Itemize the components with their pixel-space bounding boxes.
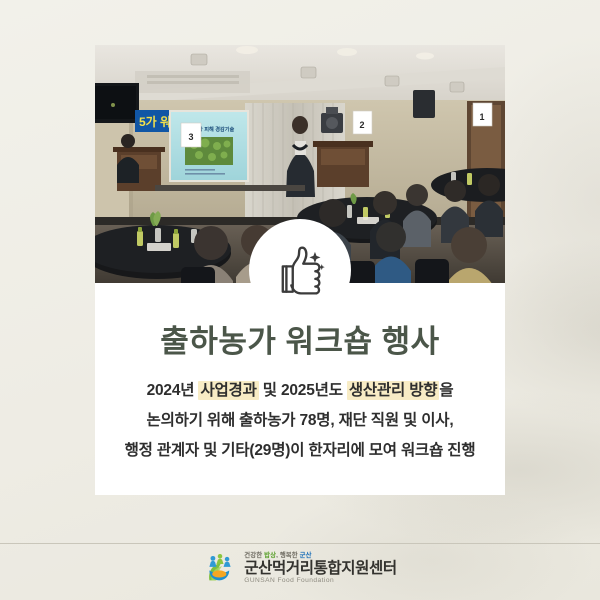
- organization-name: 군산먹거리통합지원센터: [244, 561, 396, 577]
- body-line-2: 논의하기 위해 출하농가 78명, 재단 직원 및 이사,: [95, 406, 505, 436]
- tagline-run: 건강한: [244, 552, 264, 559]
- card-body-text: 2024년 사업경과 및 2025년도 생산관리 방향을 논의하기 위해 출하농…: [95, 376, 505, 466]
- body-text-run: 논의하기 위해 출하농가 78명, 재단 직원 및 이사,: [147, 412, 454, 429]
- highlighted-phrase: 사업경과: [198, 381, 258, 400]
- tagline-run: 군산: [300, 552, 312, 559]
- organization-subtitle: GUNSAN Food Foundation: [244, 578, 396, 585]
- body-text-run: 행정 관계자 및 기타(29명)이 한자리에 모여 워크숍 진행: [125, 442, 476, 459]
- body-text-run: 을: [439, 382, 453, 399]
- svg-text:1: 1: [479, 112, 484, 122]
- svg-text:3: 3: [188, 132, 193, 142]
- gunsan-food-foundation-logo-icon: [203, 552, 237, 586]
- svg-text:2: 2: [359, 120, 364, 130]
- body-text-run: 및 2025년도: [259, 382, 347, 399]
- thumbs-up-medallion: [249, 219, 351, 321]
- footer-divider: [0, 543, 600, 544]
- sparkle-icon: [309, 252, 324, 270]
- thumbs-up-icon: [271, 241, 329, 299]
- logo-tagline: 건강한 밥상, 행복한 군산: [244, 553, 396, 559]
- logo-text-block: 건강한 밥상, 행복한 군산 군산먹거리통합지원센터 GUNSAN Food F…: [244, 553, 396, 584]
- page-title: 출하농가 워크숍 행사: [95, 316, 505, 361]
- tagline-run: , 행복한: [276, 552, 300, 559]
- footer-logo-block: 건강한 밥상, 행복한 군산 군산먹거리통합지원센터 GUNSAN Food F…: [0, 546, 600, 592]
- body-line-1: 2024년 사업경과 및 2025년도 생산관리 방향을: [95, 376, 505, 406]
- body-line-3: 행정 관계자 및 기타(29명)이 한자리에 모여 워크숍 진행: [95, 436, 505, 466]
- body-text-run: 2024년: [147, 382, 199, 399]
- highlighted-phrase: 생산관리 방향: [347, 381, 439, 400]
- tagline-run: 밥상: [264, 552, 276, 559]
